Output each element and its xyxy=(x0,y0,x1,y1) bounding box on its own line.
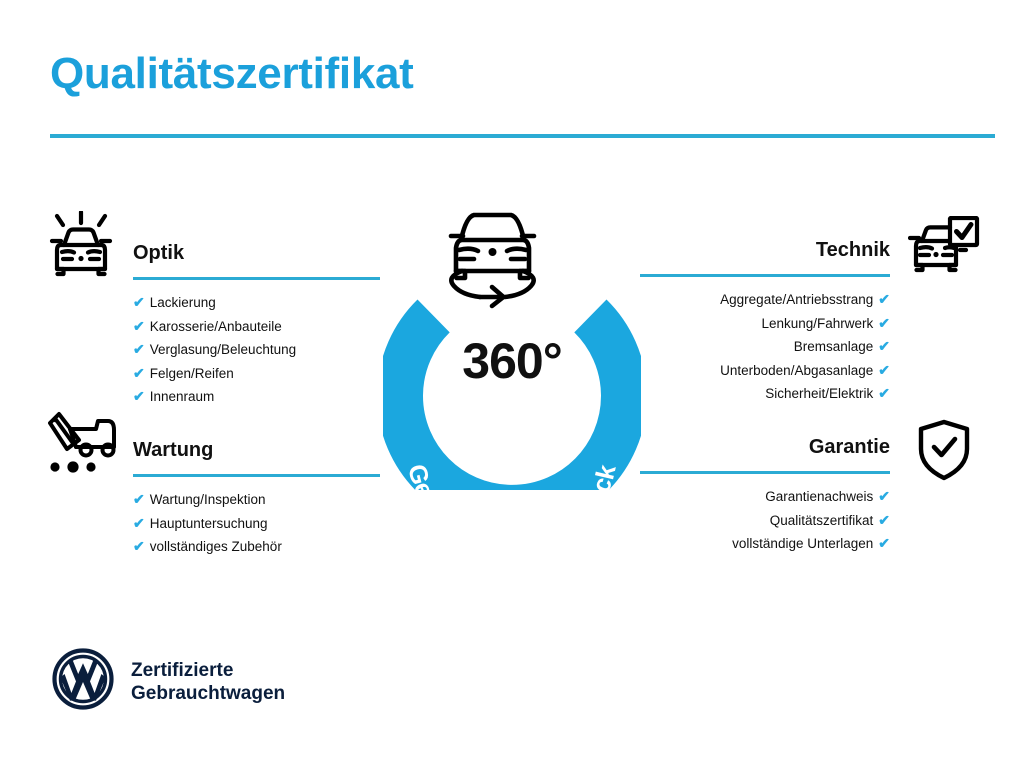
section-garantie: Garantie Garantienachweis✔ Qualitätszert… xyxy=(640,434,890,556)
check-icon: ✔ xyxy=(878,488,890,504)
check-icon: ✔ xyxy=(878,338,890,354)
check-icon: ✔ xyxy=(133,294,145,310)
check-icon: ✔ xyxy=(878,535,890,551)
check-icon: ✔ xyxy=(878,512,890,528)
list-item: Lenkung/Fahrwerk✔ xyxy=(640,312,890,336)
list-item: Sicherheit/Elektrik✔ xyxy=(640,382,890,406)
list-item-label: Unterboden/Abgasanlage xyxy=(720,363,873,378)
list-item: ✔Verglasung/Beleuchtung xyxy=(133,338,380,362)
list-item: Bremsanlage✔ xyxy=(640,335,890,359)
section-technik-header: Technik xyxy=(640,237,890,277)
shield-check-icon xyxy=(917,419,971,486)
check-icon: ✔ xyxy=(133,341,145,357)
section-garantie-title: Garantie xyxy=(640,434,890,460)
check-icon: ✔ xyxy=(878,291,890,307)
list-item-label: Wartung/Inspektion xyxy=(150,492,266,507)
list-item: vollständige Unterlagen✔ xyxy=(640,532,890,556)
section-wartung-divider xyxy=(133,474,380,477)
list-item: ✔Felgen/Reifen xyxy=(133,362,380,386)
volkswagen-lockup: Zertifizierte Gebrauchtwagen xyxy=(52,648,285,715)
section-technik-title: Technik xyxy=(640,237,890,263)
check-icon: ✔ xyxy=(133,388,145,404)
section-technik-list: Aggregate/Antriebsstrang✔ Lenkung/Fahrwe… xyxy=(640,288,890,406)
list-item-label: Garantienachweis xyxy=(765,489,873,504)
wordmark-line-1: Zertifizierte xyxy=(131,659,285,682)
list-item-label: vollständige Unterlagen xyxy=(732,536,873,551)
list-item: ✔vollständiges Zubehör xyxy=(133,535,380,559)
header-divider xyxy=(50,134,995,138)
badge-center-label: 360° xyxy=(383,332,641,390)
section-wartung: Wartung ✔Wartung/Inspektion ✔Hauptunters… xyxy=(133,437,380,559)
section-technik: Technik Aggregate/Antriebsstrang✔ Lenkun… xyxy=(640,237,890,406)
list-item-label: Lackierung xyxy=(150,295,216,310)
section-optik-divider xyxy=(133,277,380,280)
check-icon: ✔ xyxy=(878,385,890,401)
section-optik-header: Optik xyxy=(133,240,380,280)
list-item: ✔Lackierung xyxy=(133,291,380,315)
check-icon: ✔ xyxy=(133,515,145,531)
section-optik: Optik ✔Lackierung ✔Karosserie/Anbauteile… xyxy=(133,240,380,409)
car-service-pencil-icon xyxy=(46,411,118,482)
check-icon: ✔ xyxy=(133,318,145,334)
section-optik-title: Optik xyxy=(133,240,380,266)
list-item-label: Innenraum xyxy=(150,389,215,404)
section-wartung-list: ✔Wartung/Inspektion ✔Hauptuntersuchung ✔… xyxy=(133,488,380,559)
car-rotate-360-icon xyxy=(451,215,534,306)
list-item-label: Qualitätszertifikat xyxy=(770,513,874,528)
badge-360-gebrauchtwagen-check: Gebrauchtwagen-Check xyxy=(383,205,641,490)
list-item-label: Aggregate/Antriebsstrang xyxy=(720,292,873,307)
section-technik-divider xyxy=(640,274,890,277)
section-garantie-list: Garantienachweis✔ Qualitätszertifikat✔ v… xyxy=(640,485,890,556)
check-icon: ✔ xyxy=(133,538,145,554)
volkswagen-logo xyxy=(52,648,114,715)
list-item-label: Bremsanlage xyxy=(794,339,874,354)
section-wartung-title: Wartung xyxy=(133,437,380,463)
list-item-label: Lenkung/Fahrwerk xyxy=(761,316,873,331)
list-item: Unterboden/Abgasanlage✔ xyxy=(640,359,890,383)
section-garantie-divider xyxy=(640,471,890,474)
list-item: ✔Hauptuntersuchung xyxy=(133,512,380,536)
check-icon: ✔ xyxy=(878,362,890,378)
check-icon: ✔ xyxy=(878,315,890,331)
list-item: ✔Wartung/Inspektion xyxy=(133,488,380,512)
list-item-label: vollständiges Zubehör xyxy=(150,539,282,554)
list-item: ✔Karosserie/Anbauteile xyxy=(133,315,380,339)
volkswagen-wordmark: Zertifizierte Gebrauchtwagen xyxy=(131,659,285,705)
list-item-label: Sicherheit/Elektrik xyxy=(765,386,873,401)
list-item: ✔Innenraum xyxy=(133,385,380,409)
list-item-label: Hauptuntersuchung xyxy=(150,516,268,531)
car-shine-icon xyxy=(47,211,115,288)
list-item: Qualitätszertifikat✔ xyxy=(640,509,890,533)
check-icon: ✔ xyxy=(133,365,145,381)
section-optik-list: ✔Lackierung ✔Karosserie/Anbauteile ✔Verg… xyxy=(133,291,380,409)
list-item: Garantienachweis✔ xyxy=(640,485,890,509)
section-wartung-header: Wartung xyxy=(133,437,380,477)
list-item-label: Karosserie/Anbauteile xyxy=(150,319,282,334)
list-item: Aggregate/Antriebsstrang✔ xyxy=(640,288,890,312)
section-garantie-header: Garantie xyxy=(640,434,890,474)
list-item-label: Verglasung/Beleuchtung xyxy=(150,342,296,357)
page-title: Qualitätszertifikat xyxy=(50,50,414,98)
car-checkbox-icon xyxy=(908,216,980,287)
wordmark-line-2: Gebrauchtwagen xyxy=(131,682,285,705)
check-icon: ✔ xyxy=(133,491,145,507)
list-item-label: Felgen/Reifen xyxy=(150,366,234,381)
